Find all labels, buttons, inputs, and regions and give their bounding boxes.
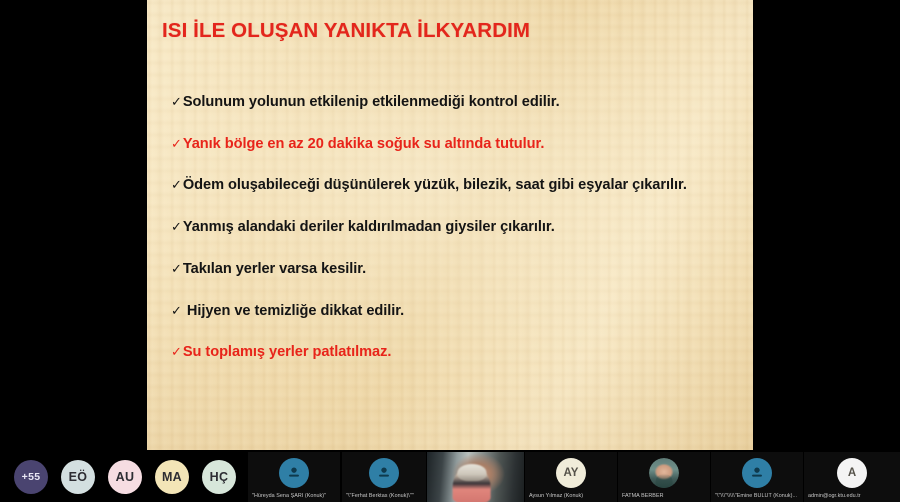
participant-video-tile[interactable] (427, 452, 524, 502)
bullet-text: Takılan yerler varsa kesilir. (183, 261, 366, 277)
avatar: A (837, 458, 867, 488)
person-icon (279, 458, 309, 488)
check-icon: ✓ (171, 219, 182, 234)
participant-avatar-chip[interactable]: HÇ (202, 460, 236, 494)
avatar: AY (556, 458, 586, 488)
bullet-text: Hijyen ve temizliğe dikkat edilir. (187, 303, 404, 319)
bullet-item: ✓Solunum yolunun etkilenip etkilenmediği… (171, 92, 731, 113)
participant-avatar-chip[interactable]: MA (155, 460, 189, 494)
participant-tile[interactable]: "Hüreyda Sena ŞARİ (Konuk)" (248, 452, 340, 502)
avatar-initials: AU (116, 470, 135, 484)
overflow-participants-chip[interactable]: +55 (14, 460, 48, 494)
participant-tile[interactable]: FATMA BERBER (618, 452, 710, 502)
participant-name: "\"Ferhat Berktas (Konuk)\"" (346, 493, 422, 499)
avatar-initials: MA (162, 470, 182, 484)
overflow-participants-count: +55 (22, 471, 41, 483)
avatar-initials: HÇ (210, 470, 229, 484)
bullet-item: ✓Ödem oluşabileceği düşünülerek yüzük, b… (171, 175, 731, 196)
bullet-text: Solunum yolunun etkilenip etkilenmediği … (183, 94, 560, 110)
slide-content: ISI İLE OLUŞAN YANIKTA İLKYARDIM ✓Solunu… (147, 0, 753, 450)
person-icon (742, 458, 772, 488)
check-icon: ✓ (171, 261, 182, 276)
check-icon: ✓ (171, 177, 182, 192)
participant-name: FATMA BERBER (622, 493, 706, 499)
check-icon: ✓ (171, 344, 182, 359)
meeting-screen-share-view: ISI İLE OLUŞAN YANIKTA İLKYARDIM ✓Solunu… (0, 0, 900, 502)
video-feed (427, 452, 524, 502)
bullet-item: ✓Hijyen ve temizliğe dikkat edilir. (171, 301, 731, 322)
participant-name: Aysun Yılmaz (Konuk) (529, 493, 613, 499)
avatar-photo (649, 458, 679, 488)
bullet-text: Yanmış alandaki deriler kaldırılmadan gi… (183, 219, 555, 235)
bullet-item: ✓Yanık bölge en az 20 dakika soğuk su al… (171, 134, 731, 155)
participant-tile[interactable]: "\"\\\"\\\\\"Emine BULUT (Konuk)... (711, 452, 803, 502)
bullet-text: Yanık bölge en az 20 dakika soğuk su alt… (183, 136, 544, 152)
bullet-item: ✓Su toplamış yerler patlatılmaz. (171, 342, 731, 363)
participant-avatar-chip[interactable]: AU (108, 460, 142, 494)
slide-bullet-list: ✓Solunum yolunun etkilenip etkilenmediği… (171, 92, 731, 384)
check-icon: ✓ (171, 136, 182, 151)
bullet-text: Su toplamış yerler patlatılmaz. (183, 344, 392, 360)
participant-tile[interactable]: "\"Ferhat Berktas (Konuk)\"" (342, 452, 426, 502)
shared-screen-stage: ISI İLE OLUŞAN YANIKTA İLKYARDIM ✓Solunu… (0, 0, 900, 452)
check-icon: ✓ (171, 303, 182, 318)
presentation-slide: ISI İLE OLUŞAN YANIKTA İLKYARDIM ✓Solunu… (147, 0, 753, 450)
check-icon: ✓ (171, 94, 182, 109)
participant-avatar-chip[interactable]: EÖ (61, 460, 95, 494)
avatar-initials: EÖ (69, 470, 88, 484)
person-icon (369, 458, 399, 488)
avatar (649, 458, 679, 488)
avatar-initials: A (848, 467, 856, 479)
slide-title: ISI İLE OLUŞAN YANIKTA İLKYARDIM (162, 19, 530, 43)
bullet-item: ✓Yanmış alandaki deriler kaldırılmadan g… (171, 217, 731, 238)
video-person-hair (457, 464, 486, 481)
participant-tile[interactable]: A admin@ogr.ktu.edu.tr (804, 452, 900, 502)
bullet-item: ✓Takılan yerler varsa kesilir. (171, 259, 731, 280)
participant-name: "\"\\\"\\\\\"Emine BULUT (Konuk)... (715, 493, 799, 499)
participant-filmstrip: +55 EÖ AU MA HÇ (0, 452, 900, 502)
participant-name: "Hüreyda Sena ŞARİ (Konuk)" (252, 493, 336, 499)
avatar-initials: AY (564, 467, 579, 479)
participant-name: admin@ogr.ktu.edu.tr (808, 493, 896, 499)
bullet-text: Ödem oluşabileceği düşünülerek yüzük, bi… (183, 177, 687, 193)
participant-tile[interactable]: AY Aysun Yılmaz (Konuk) (525, 452, 617, 502)
